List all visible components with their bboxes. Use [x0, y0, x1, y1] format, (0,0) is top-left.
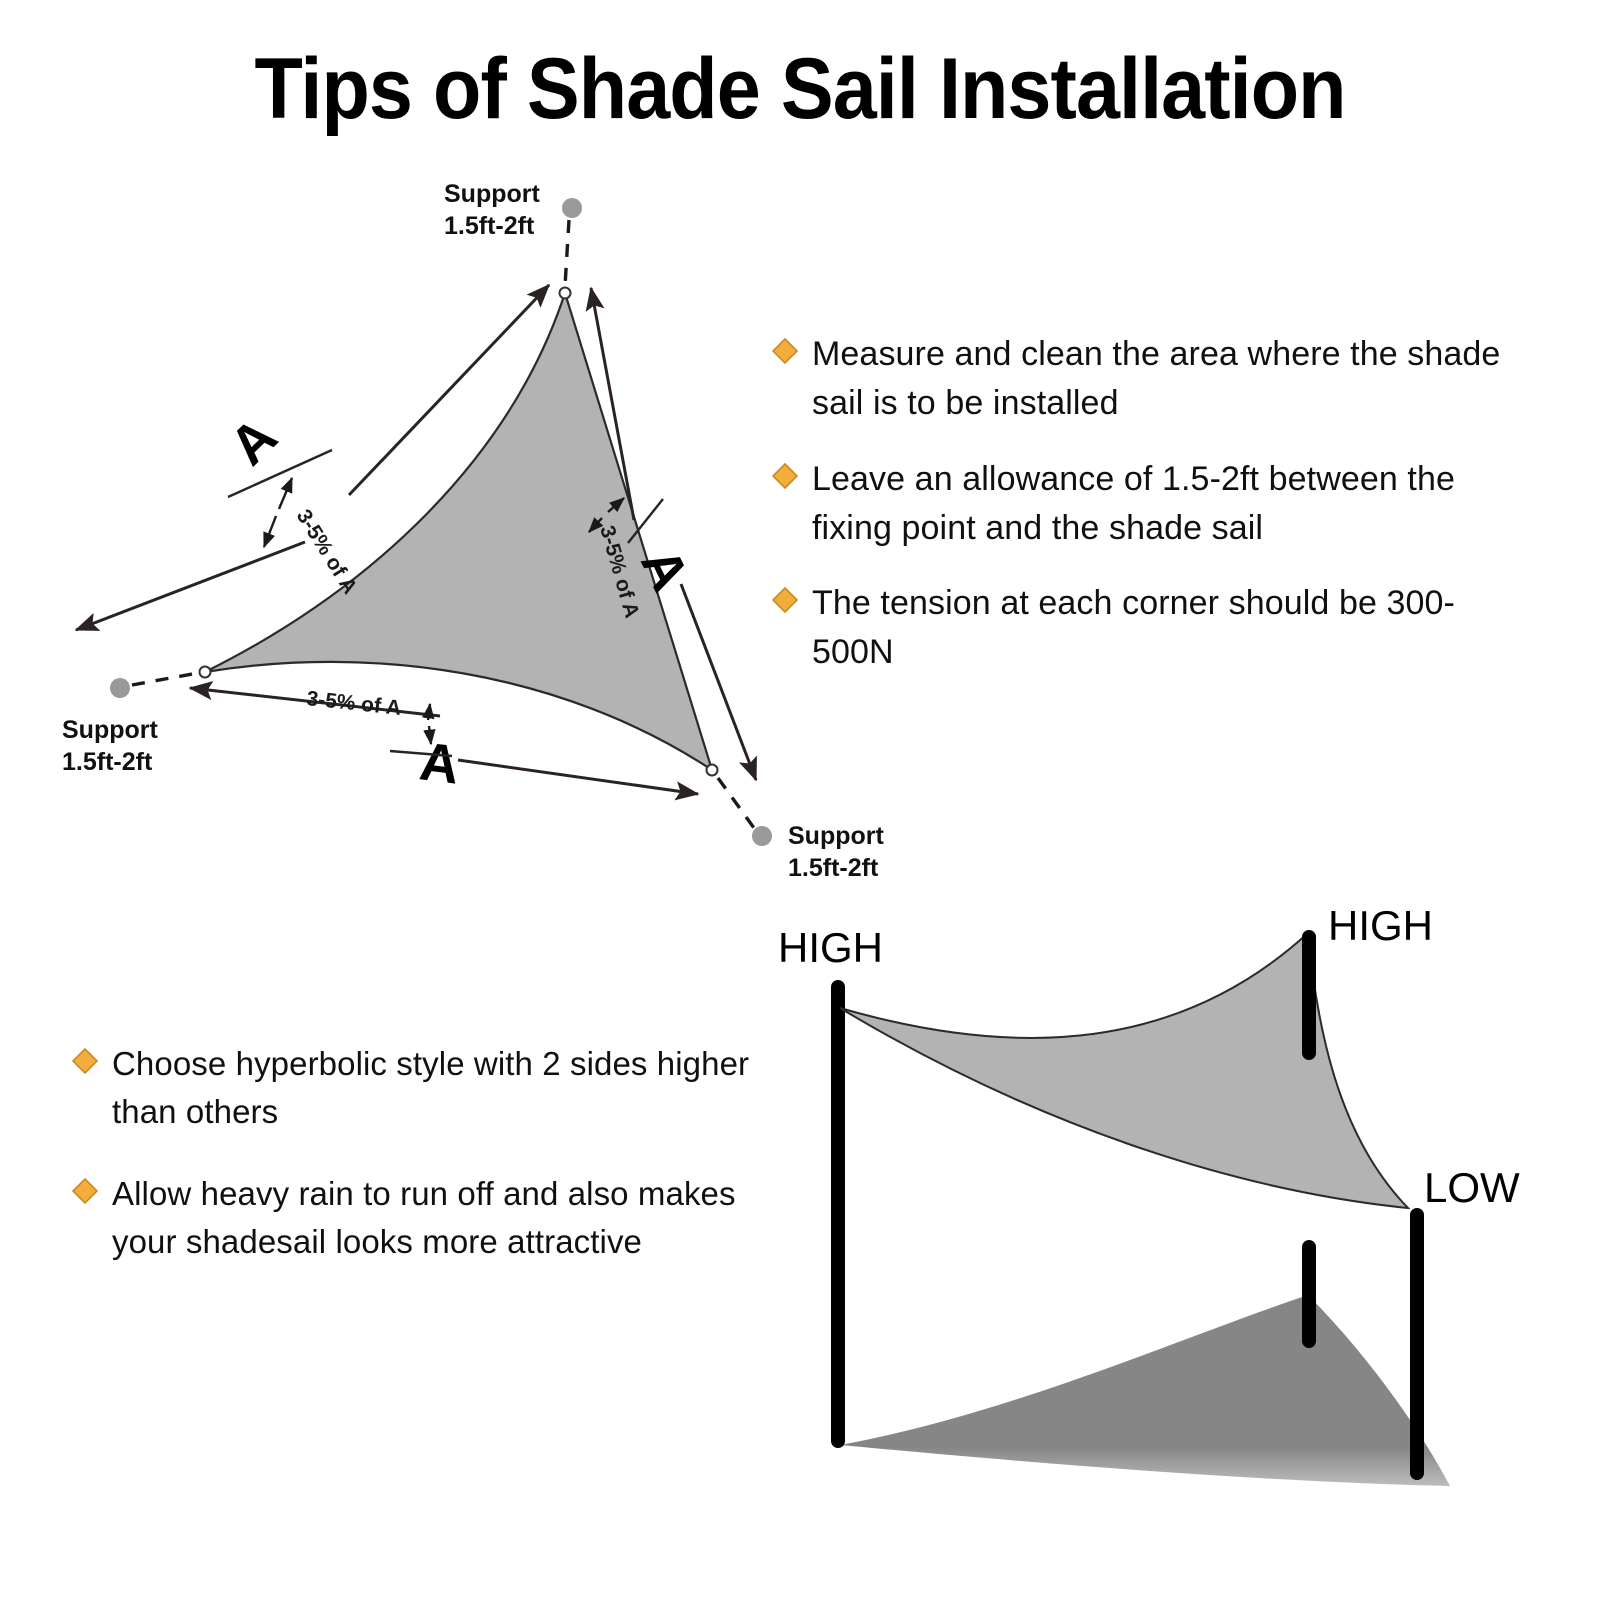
tip-item: Choose hyperbolic style with 2 sides hig… — [72, 1040, 792, 1136]
tip-item: Measure and clean the area where the sha… — [772, 330, 1532, 429]
support-bottom-right-line2: 1.5ft-2ft — [788, 854, 879, 882]
support-top-line2: 1.5ft-2ft — [444, 212, 535, 240]
tip-item: Allow heavy rain to run off and also mak… — [72, 1170, 792, 1266]
hyperbolic-sail-shape — [840, 933, 1408, 1208]
post-label-front-right-low: LOW — [1424, 1164, 1520, 1211]
support-lead-top — [565, 220, 569, 286]
diamond-bullet-icon — [772, 338, 798, 364]
tip-text: Measure and clean the area where the sha… — [812, 330, 1532, 429]
infographic-page: Tips of Shade Sail Installation Suppo — [0, 0, 1600, 1600]
grommet-bottom-right — [707, 765, 718, 776]
page-title: Tips of Shade Sail Installation — [64, 44, 1536, 134]
tip-text: Choose hyperbolic style with 2 sides hig… — [112, 1040, 792, 1136]
tips-list-lower-left: Choose hyperbolic style with 2 sides hig… — [72, 1040, 792, 1299]
allowance-label-bottom: 3-5% of A — [305, 687, 402, 720]
post-left-high — [831, 980, 845, 1448]
sail-ground-shadow — [840, 1295, 1450, 1486]
post-front-right-low — [1410, 1208, 1424, 1480]
support-left-line2: 1.5ft-2ft — [62, 748, 153, 776]
tip-text: Leave an allowance of 1.5-2ft between th… — [812, 455, 1532, 554]
diamond-bullet-icon — [72, 1178, 98, 1204]
support-left-line1: Support — [62, 716, 158, 744]
hyperbolic-shade-sail-diagram: HIGH HIGH LOW — [760, 890, 1590, 1530]
support-dot-top — [562, 198, 582, 218]
tip-text: The tension at each corner should be 300… — [812, 579, 1532, 678]
allowance-label-left: 3-5% of A — [292, 505, 362, 598]
support-dot-bottom-right — [752, 826, 772, 846]
post-label-left-high: HIGH — [778, 924, 883, 971]
tip-item: Leave an allowance of 1.5-2ft between th… — [772, 455, 1532, 554]
diamond-bullet-icon — [772, 463, 798, 489]
grommet-left — [200, 667, 211, 678]
post-label-back-right-high: HIGH — [1328, 902, 1433, 949]
post-back-right-high-upper — [1302, 930, 1316, 1060]
grommet-top — [560, 288, 571, 299]
tip-text: Allow heavy rain to run off and also mak… — [112, 1170, 792, 1266]
diamond-bullet-icon — [772, 587, 798, 613]
dimension-letter-left: A — [219, 406, 289, 476]
dimension-letter-bottom: A — [417, 731, 463, 795]
support-lead-left — [132, 673, 198, 685]
tip-item: The tension at each corner should be 300… — [772, 579, 1532, 678]
post-back-right-high-lower — [1302, 1240, 1316, 1348]
support-top-line1: Support — [444, 180, 540, 208]
support-bottom-right-line1: Support — [788, 822, 884, 850]
diamond-bullet-icon — [72, 1048, 98, 1074]
support-lead-bottom-right — [718, 778, 754, 828]
support-dot-left — [110, 678, 130, 698]
tips-list-upper-right: Measure and clean the area where the sha… — [772, 330, 1532, 704]
